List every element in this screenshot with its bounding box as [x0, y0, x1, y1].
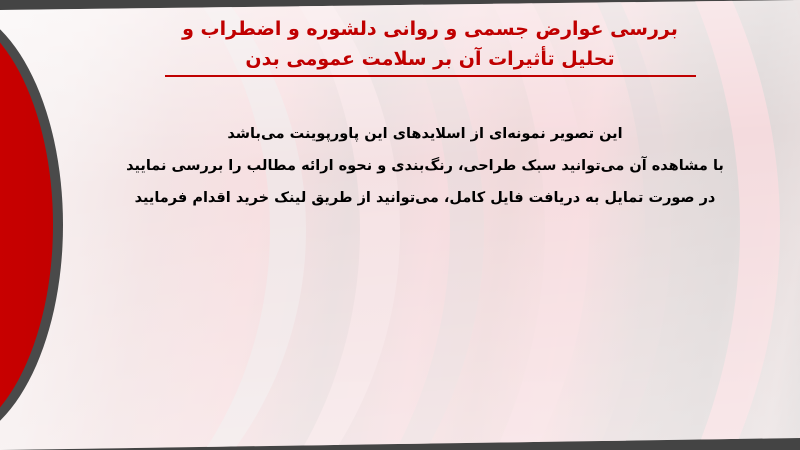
- slide-body: این تصویر نمونه‌ای از اسلایدهای این پاور…: [120, 118, 730, 214]
- presentation-slide: بررسی عوارض جسمی و روانی دلشوره و اضطراب…: [0, 0, 800, 450]
- body-line-3: در صورت تمایل به دریافت فایل کامل، می‌تو…: [120, 182, 730, 214]
- body-line-2: با مشاهده آن می‌توانید سبک طراحی، رنگ‌بن…: [120, 150, 730, 182]
- title-line-2: تحلیل تأثیرات آن بر سلامت عمومی بدن: [165, 44, 696, 77]
- title-line-1: بررسی عوارض جسمی و روانی دلشوره و اضطراب…: [120, 14, 740, 44]
- body-line-1: این تصویر نمونه‌ای از اسلایدهای این پاور…: [120, 118, 730, 150]
- slide-title: بررسی عوارض جسمی و روانی دلشوره و اضطراب…: [120, 14, 740, 77]
